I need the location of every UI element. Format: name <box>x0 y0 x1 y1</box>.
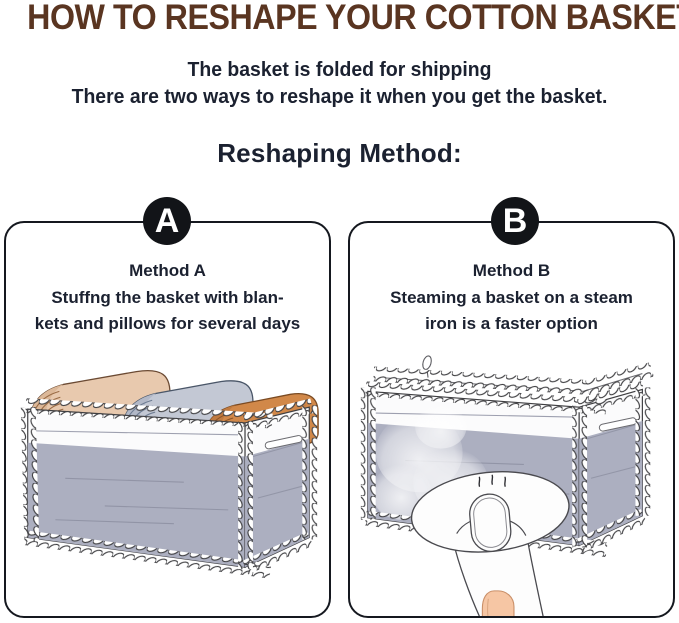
rope-trim-top-front-right <box>577 381 646 414</box>
rope-trim-right-edge <box>635 387 650 515</box>
steamer-port <box>468 492 512 553</box>
rope-trim-top-back <box>373 367 589 395</box>
rope-trim-top-right <box>243 399 314 430</box>
basket-side-label <box>599 417 637 432</box>
badge-method-a: A <box>143 197 191 245</box>
rope-trim-corner-edge <box>238 421 253 569</box>
card-a-description-line-1: Stuffng the basket with blan- <box>12 285 323 311</box>
rope-trim-top-front <box>365 381 606 414</box>
card-b-heading: Method B <box>358 259 665 283</box>
card-b-description: Steaming a basket on a steam iron is a f… <box>356 285 667 337</box>
subtitle-line-1: The basket is folded for shipping <box>10 57 669 84</box>
steam-marks <box>479 475 505 486</box>
rope-trim-right-edge <box>302 405 317 539</box>
method-card-b[interactable]: Method B Steaming a basket on a steam ir… <box>348 221 675 618</box>
rope-trim-left-edge <box>21 407 39 542</box>
blanket-roll-orange <box>203 394 318 456</box>
rope-trim-left-edge <box>361 387 376 519</box>
subtitle-line-2: There are two ways to reshape it when yo… <box>10 84 669 111</box>
rope-trim-corner-edge <box>572 405 587 547</box>
method-card-a[interactable]: Method A Stuffng the basket with blan- k… <box>4 221 331 618</box>
card-a-description-line-2: kets and pillows for several days <box>12 311 323 337</box>
card-a-description: Stuffng the basket with blan- kets and p… <box>12 285 323 337</box>
rope-trim-bottom-right <box>576 509 647 552</box>
rope-trim-bottom-front <box>365 511 608 557</box>
rope-trim-bottom-front <box>25 530 272 578</box>
rope-trim-top-front <box>25 398 272 428</box>
section-heading: Reshaping Method: <box>0 136 679 170</box>
card-b-description-line-1: Steaming a basket on a steam <box>356 285 667 311</box>
basket-front-grey <box>28 443 245 567</box>
thumb <box>482 591 514 616</box>
rope-trim-top-back-right <box>585 362 654 395</box>
card-a-heading: Method A <box>14 259 321 283</box>
rope-trim-bottom-right <box>242 532 313 574</box>
steam-cloud <box>372 405 489 520</box>
basket-side-grey <box>579 421 642 545</box>
basket-front-grey <box>368 423 579 545</box>
badge-method-b: B <box>491 197 539 245</box>
page-title: HOW TO RESHAPE YOUR COTTON BASKET <box>27 0 652 38</box>
steam-iron <box>408 464 573 616</box>
blanket-roll-grey <box>122 381 253 447</box>
basket-side-label <box>265 435 303 450</box>
steamer-head <box>408 464 573 559</box>
subtitle-block: The basket is folded for shipping There … <box>0 57 679 111</box>
basket-side-grey <box>245 439 309 567</box>
card-b-description-line-2: iron is a faster option <box>356 311 667 337</box>
blanket-roll-beige <box>29 371 170 439</box>
rope-loop-detail <box>421 355 432 378</box>
